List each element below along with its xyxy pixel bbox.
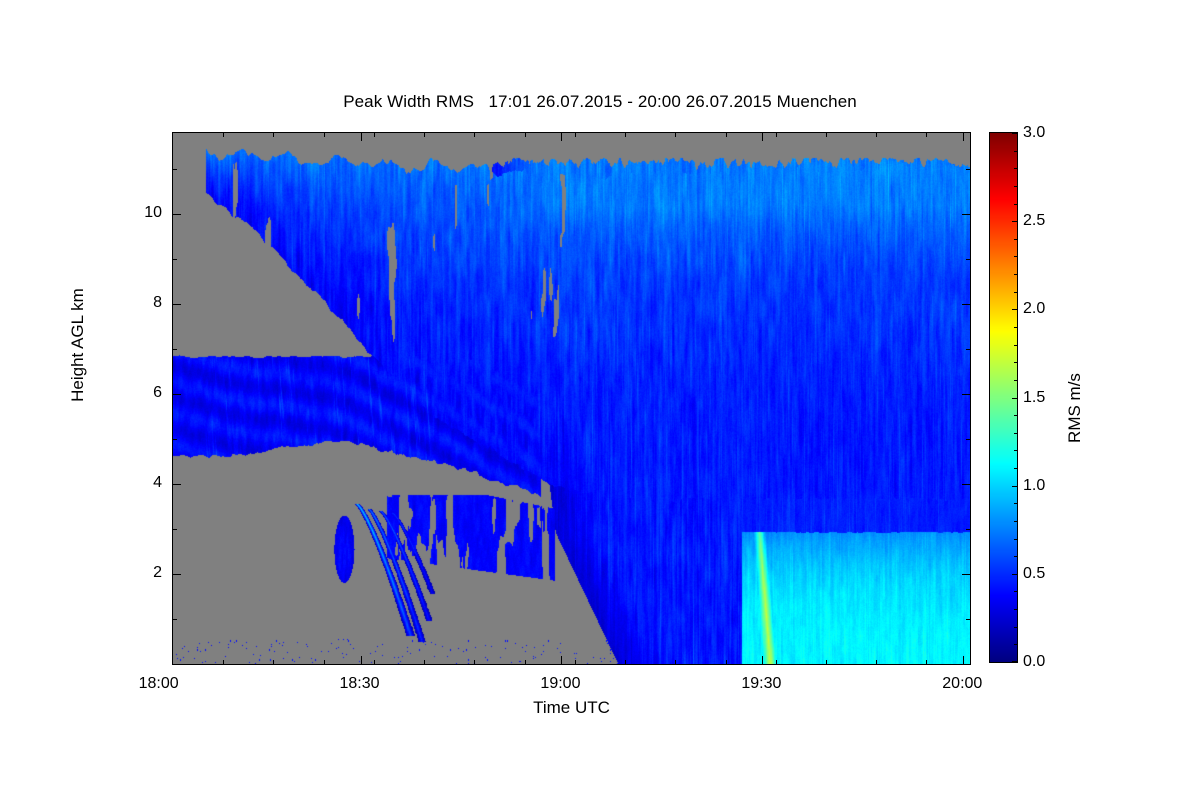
y-axis-minor-tick (173, 259, 177, 260)
x-axis-tick (561, 656, 562, 664)
x-axis-minor-tick (625, 133, 626, 137)
colorbar-minor-tick (1014, 644, 1017, 645)
x-axis-minor-tick (324, 133, 325, 137)
chart-title: Peak Width RMS 17:01 26.07.2015 - 20:00 … (0, 92, 1200, 112)
x-axis-minor-tick (273, 133, 274, 137)
x-axis-minor-tick (273, 660, 274, 664)
y-axis-tick (962, 574, 970, 575)
x-axis-minor-tick (575, 133, 576, 137)
y-axis-minor-tick (966, 529, 970, 530)
x-axis-minor-tick (726, 660, 727, 664)
y-axis-tick-label: 8 (116, 294, 162, 312)
colorbar-minor-tick (1014, 239, 1017, 240)
x-axis-minor-tick (424, 133, 425, 137)
x-axis-minor-tick (223, 660, 224, 664)
x-axis-minor-tick (575, 660, 576, 664)
y-axis-minor-tick (966, 439, 970, 440)
y-axis-minor-tick (173, 169, 177, 170)
colorbar-tick (1012, 221, 1017, 222)
colorbar-minor-tick (1014, 345, 1017, 346)
colorbar-minor-tick (1014, 627, 1017, 628)
x-axis-tick (361, 656, 362, 664)
colorbar-minor-tick (1014, 556, 1017, 557)
figure-canvas: Peak Width RMS 17:01 26.07.2015 - 20:00 … (0, 0, 1200, 800)
colorbar-tick (1012, 398, 1017, 399)
colorbar-minor-tick (1014, 204, 1017, 205)
x-axis-minor-tick (324, 660, 325, 664)
colorbar-minor-tick (1014, 503, 1017, 504)
y-axis-title: Height AGL km (68, 245, 88, 445)
colorbar-tick-label: 1.5 (1023, 389, 1045, 407)
colorbar-tick (1012, 661, 1017, 662)
x-axis-minor-tick (374, 133, 375, 137)
colorbar-minor-tick (1014, 433, 1017, 434)
x-axis-tick-label: 19:30 (741, 675, 781, 693)
colorbar-minor-tick (1014, 274, 1017, 275)
colorbar-minor-tick (1014, 168, 1017, 169)
x-axis-minor-tick (525, 660, 526, 664)
colorbar-minor-tick (1014, 415, 1017, 416)
x-axis-tick-label: 20:00 (942, 675, 982, 693)
y-axis-tick-label: 10 (116, 204, 162, 222)
colorbar-minor-tick (1014, 539, 1017, 540)
x-axis-minor-tick (525, 133, 526, 137)
colorbar-minor-tick (1014, 450, 1017, 451)
colorbar-tick-label: 0.0 (1023, 653, 1045, 671)
y-axis-minor-tick (966, 349, 970, 350)
y-axis-tick-label: 2 (116, 564, 162, 582)
y-axis-minor-tick (966, 619, 970, 620)
x-axis-minor-tick (474, 133, 475, 137)
x-axis-minor-tick (926, 660, 927, 664)
y-axis-minor-tick (966, 169, 970, 170)
x-axis-minor-tick (474, 660, 475, 664)
colorbar-minor-tick (1014, 292, 1017, 293)
y-axis-tick (173, 484, 181, 485)
x-axis-minor-tick (776, 133, 777, 137)
x-axis-tick (561, 133, 562, 141)
y-axis-minor-tick (173, 349, 177, 350)
y-axis-tick (173, 304, 181, 305)
y-axis-tick (962, 394, 970, 395)
colorbar-minor-tick (1014, 186, 1017, 187)
y-axis-minor-tick (173, 439, 177, 440)
colorbar-minor-tick (1014, 486, 1017, 487)
colorbar-minor-tick (1014, 521, 1017, 522)
x-axis-minor-tick (374, 660, 375, 664)
x-axis-minor-tick (826, 660, 827, 664)
x-axis-minor-tick (876, 133, 877, 137)
heatmap-plot-area (172, 132, 971, 665)
x-axis-minor-tick (223, 133, 224, 137)
y-axis-tick-label: 4 (116, 474, 162, 492)
colorbar-tick-label: 3.0 (1023, 124, 1045, 142)
y-axis-tick (173, 574, 181, 575)
x-axis-minor-tick (675, 660, 676, 664)
x-axis-minor-tick (726, 133, 727, 137)
colorbar-tick-label: 2.0 (1023, 300, 1045, 318)
colorbar-minor-tick (1014, 362, 1017, 363)
x-axis-minor-tick (675, 133, 676, 137)
x-axis-tick-label: 18:00 (139, 675, 179, 693)
x-axis-tick (762, 656, 763, 664)
colorbar-minor-tick (1014, 151, 1017, 152)
colorbar-tick (1012, 133, 1017, 134)
y-axis-tick-label: 6 (116, 384, 162, 402)
x-axis-title: Time UTC (172, 698, 971, 718)
y-axis-minor-tick (173, 619, 177, 620)
colorbar-minor-tick (1014, 468, 1017, 469)
y-axis-tick (962, 484, 970, 485)
colorbar-minor-tick (1014, 591, 1017, 592)
y-axis-tick (962, 304, 970, 305)
x-axis-tick (361, 133, 362, 141)
colorbar-minor-tick (1014, 380, 1017, 381)
x-axis-minor-tick (926, 133, 927, 137)
x-axis-minor-tick (876, 660, 877, 664)
x-axis-tick-label: 19:00 (540, 675, 580, 693)
colorbar-title: RMS m/s (1065, 308, 1085, 508)
colorbar-tick (1012, 309, 1017, 310)
x-axis-tick (963, 656, 964, 664)
x-axis-minor-tick (424, 660, 425, 664)
colorbar-minor-tick (1014, 256, 1017, 257)
colorbar-tick-label: 0.5 (1023, 565, 1045, 583)
y-axis-tick (173, 394, 181, 395)
y-axis-tick (962, 214, 970, 215)
colorbar-minor-tick (1014, 609, 1017, 610)
y-axis-tick (173, 214, 181, 215)
x-axis-minor-tick (776, 660, 777, 664)
x-axis-tick-label: 18:30 (339, 675, 379, 693)
colorbar-tick-label: 1.0 (1023, 477, 1045, 495)
colorbar-minor-tick (1014, 327, 1017, 328)
x-axis-tick (762, 133, 763, 141)
y-axis-minor-tick (173, 529, 177, 530)
x-axis-minor-tick (625, 660, 626, 664)
x-axis-tick (963, 133, 964, 141)
y-axis-minor-tick (966, 259, 970, 260)
colorbar-tick (1012, 574, 1017, 575)
heatmap-image (173, 133, 970, 664)
colorbar-tick-label: 2.5 (1023, 212, 1045, 230)
colorbar (989, 132, 1018, 663)
x-axis-minor-tick (826, 133, 827, 137)
